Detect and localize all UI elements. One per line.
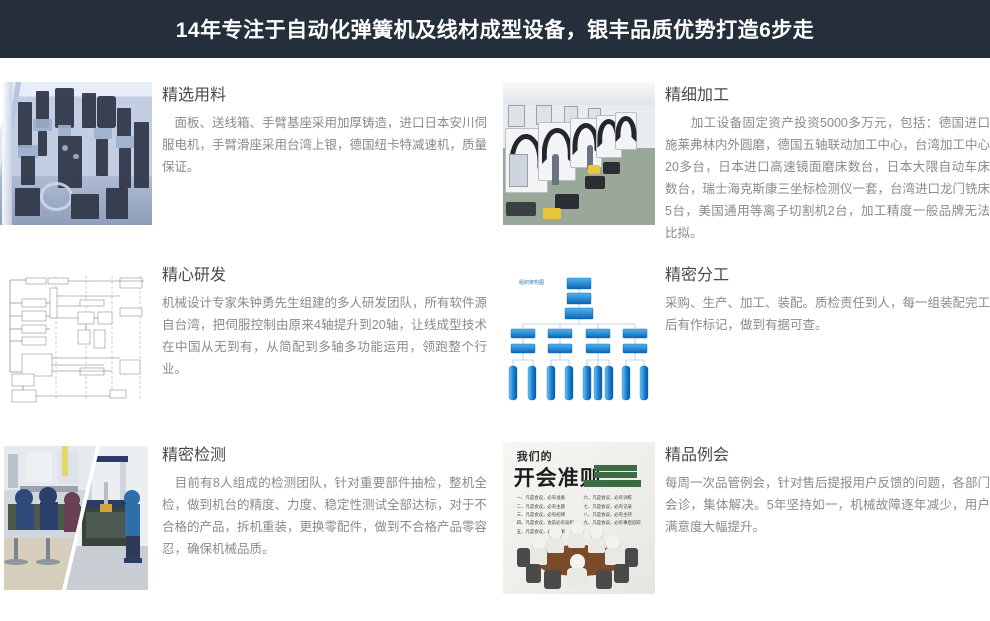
banner-title: 14年专注于自动化弹簧机及线材成型设备，银丰品质优势打造6步走	[176, 14, 815, 44]
feature-copy-4: 精密分工 采购、生产、加工、装配。质检责任到人，每一组装配完工后有作标记，做到有…	[665, 262, 990, 336]
poster-rule-3: 三、凡是会议，必有纪律	[517, 512, 565, 518]
poster-rule-6: 六、凡是会议，必有训练	[584, 495, 632, 501]
feature-title-4: 精密分工	[665, 266, 990, 286]
svg-text:组织架构图: 组织架构图	[519, 279, 544, 286]
machine-parts-photo	[0, 82, 152, 225]
feature-copy-5: 精密检测 目前有8人组成的检测团队，针对重要部件抽检，整机全检，做到机台的精度、…	[162, 442, 487, 560]
inspection-lab-photo	[0, 442, 152, 594]
feature-body-2: 加工设备固定资产投资5000多万元，包括：德国进口施莱弗林内外圆磨，德国五轴联动…	[665, 112, 990, 244]
block-diagram-svg	[0, 262, 152, 405]
poster-rule-2: 二、凡是会议，必有主题	[517, 504, 565, 510]
meeting-rules-poster: 我们的 开会准则 一、凡是会议，必有准备 二、凡是会议，必有主题 三、凡是会议，…	[503, 442, 655, 594]
poster-line2: 开会准则	[514, 462, 602, 492]
feature-grid: 精选用料 面板、送线箱、手臂基座采用加厚铸造，进口日本安川伺服电机，手臂滑座采用…	[0, 58, 990, 621]
feature-body-4: 采购、生产、加工、装配。质检责任到人，每一组装配完工后有作标记，做到有据可查。	[665, 292, 990, 336]
system-block-diagram	[0, 262, 152, 405]
feature-body-1: 面板、送线箱、手臂基座采用加厚铸造，进口日本安川伺服电机，手臂滑座采用台湾上银，…	[162, 112, 487, 178]
lab-photo-svg	[0, 442, 152, 594]
feature-copy-6: 精品例会 每周一次品管例会，针对售后提报用户反馈的问题，各部门会诊，集体解决。5…	[665, 442, 990, 538]
feature-title-5: 精密检测	[162, 446, 487, 466]
feature-copy-3: 精心研发 机械设计专家朱钟勇先生组建的多人研发团队，所有软件源自台湾，把伺服控制…	[162, 262, 487, 380]
feature-body-3: 机械设计专家朱钟勇先生组建的多人研发团队，所有软件源自台湾，把伺服控制由原来4轴…	[162, 292, 487, 380]
feature-title-3: 精心研发	[162, 266, 487, 286]
org-chart-svg: 组织架构图	[503, 262, 655, 405]
feature-body-5: 目前有8人组成的检测团队，针对重要部件抽检，整机全检，做到机台的精度、力度、稳定…	[162, 472, 487, 560]
poster-rule-7: 七、凡是会议，必有记录	[584, 504, 632, 510]
page-banner: 14年专注于自动化弹簧机及线材成型设备，银丰品质优势打造6步走	[0, 0, 990, 58]
factory-machining-line-photo	[503, 82, 655, 225]
poster-rule-9: 九、凡是会议，必有事后追踪	[584, 520, 641, 526]
feature-title-1: 精选用料	[162, 86, 487, 106]
feature-title-6: 精品例会	[665, 446, 990, 466]
feature-title-2: 精细加工	[665, 86, 990, 106]
feature-copy-2: 精细加工 加工设备固定资产投资5000多万元，包括：德国进口施莱弗林内外圆磨，德…	[665, 82, 990, 244]
promo-page: 14年专注于自动化弹簧机及线材成型设备，银丰品质优势打造6步走	[0, 0, 990, 621]
feature-copy-1: 精选用料 面板、送线箱、手臂基座采用加厚铸造，进口日本安川伺服电机，手臂滑座采用…	[162, 82, 487, 178]
organization-chart: 组织架构图	[503, 262, 655, 405]
feature-body-6: 每周一次品管例会，针对售后提报用户反馈的问题，各部门会诊，集体解决。5年坚持如一…	[665, 472, 990, 538]
poster-rule-4: 四、凡是会议，会前必有议程	[517, 520, 574, 526]
poster-rule-1: 一、凡是会议，必有准备	[517, 495, 565, 501]
poster-rule-8: 八、凡是会议，必有主持	[584, 512, 632, 518]
